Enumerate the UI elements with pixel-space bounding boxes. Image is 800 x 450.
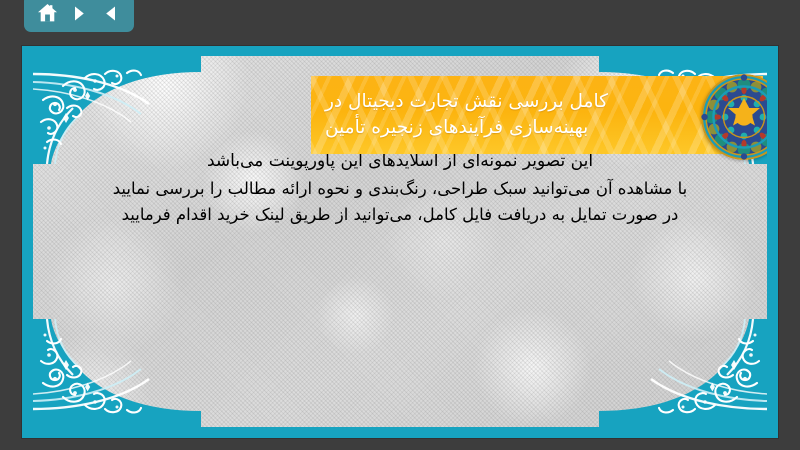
slide-title-line-2: بهینه‌سازی فرآیندهای زنجیره تأمین bbox=[325, 115, 588, 141]
home-button[interactable] bbox=[35, 1, 61, 25]
slide-body-text: این تصویر نمونه‌ای از اسلایدهای این پاور… bbox=[59, 148, 741, 229]
back-arrow-icon bbox=[101, 4, 120, 23]
slide-frame: کامل بررسی نقش تجارت دیجیتال در بهینه‌سا… bbox=[22, 46, 778, 438]
slide-canvas: کامل بررسی نقش تجارت دیجیتال در بهینه‌سا… bbox=[33, 56, 767, 427]
navigation-bar bbox=[24, 0, 134, 32]
body-line-3: در صورت تمایل به دریافت فایل کامل، می‌تو… bbox=[59, 202, 741, 229]
app-window: کامل بررسی نقش تجارت دیجیتال در بهینه‌سا… bbox=[0, 0, 800, 450]
forward-button[interactable] bbox=[66, 1, 92, 25]
body-line-2: با مشاهده آن می‌توانید سبک طراحی، رنگ‌بن… bbox=[59, 176, 741, 203]
forward-arrow-icon bbox=[70, 4, 89, 23]
arabesque-corner-ornament-bottom-right bbox=[599, 319, 767, 427]
home-icon bbox=[37, 3, 58, 23]
slide-title-banner: کامل بررسی نقش تجارت دیجیتال در بهینه‌سا… bbox=[311, 76, 763, 154]
slide-title-line-1: کامل بررسی نقش تجارت دیجیتال در bbox=[325, 89, 608, 115]
back-button[interactable] bbox=[97, 1, 123, 25]
arabesque-corner-ornament-bottom-left bbox=[33, 319, 201, 427]
